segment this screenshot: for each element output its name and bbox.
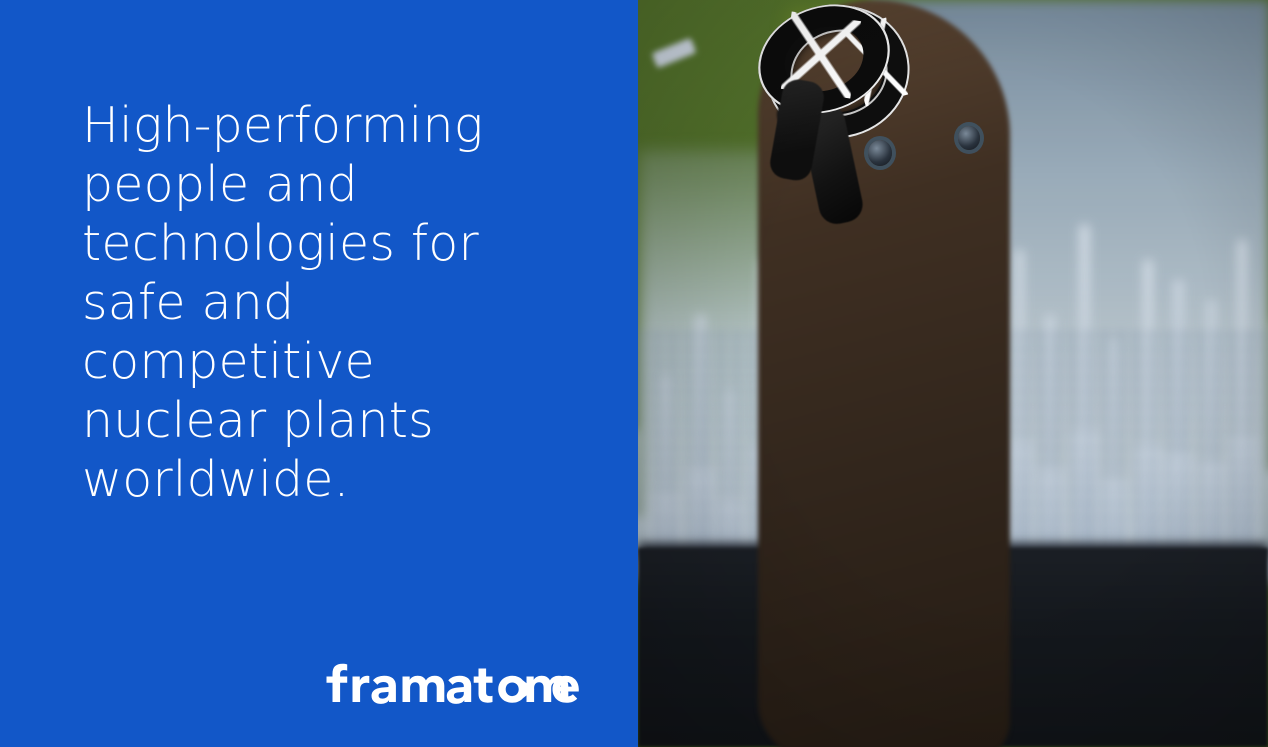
page-title: High-performing people and technologies … — [82, 96, 582, 509]
framatome-logo[interactable] — [322, 658, 580, 706]
vr-photograph — [638, 0, 1268, 747]
headset-camera-lens-2 — [868, 140, 892, 166]
person — [758, 0, 1268, 747]
left-blue-panel: High-performing people and technologies … — [0, 0, 638, 747]
headset-camera-lens-3 — [958, 126, 980, 150]
framatome-banner: High-performing people and technologies … — [0, 0, 1268, 747]
